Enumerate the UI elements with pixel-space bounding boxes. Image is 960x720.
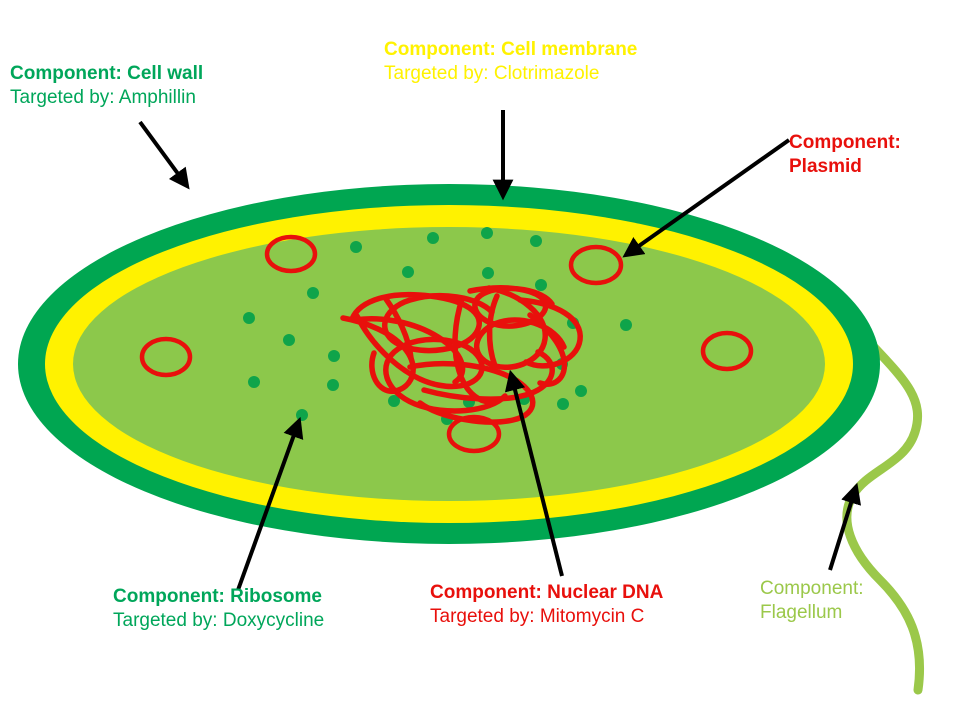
ribosome-dot [575,385,587,397]
label-nuclear-dna: Component: Nuclear DNA Targeted by: Mito… [430,581,663,630]
ribosome-dot [327,379,339,391]
label-cell-wall-component: Component: Cell wall [10,62,203,86]
ribosome-dot [530,235,542,247]
label-nuclear-dna-targeted-by: Targeted by: Mitomycin C [430,605,663,629]
label-ribosome-component: Component: Ribosome [113,585,324,609]
ribosome-dot [557,398,569,410]
label-cell-membrane: Component: Cell membrane Targeted by: Cl… [384,38,637,87]
label-plasmid-component: Component: [789,131,901,155]
label-flagellum-component-line2: Flagellum [760,601,864,625]
label-plasmid: Component: Plasmid [789,131,901,180]
ribosome-dot [307,287,319,299]
ribosome-dot [535,279,547,291]
ribosome-dot [328,350,340,362]
ribosome-dot [243,312,255,324]
label-cell-wall: Component: Cell wall Targeted by: Amphil… [10,62,203,111]
ribosome-dot [296,409,308,421]
label-flagellum: Component: Flagellum [760,577,864,626]
cell-wall-arrow [140,122,187,186]
ribosome-dot [427,232,439,244]
ribosome-dot [248,376,260,388]
label-ribosome-targeted-by: Targeted by: Doxycycline [113,609,324,633]
label-cell-membrane-component: Component: Cell membrane [384,38,637,62]
label-nuclear-dna-component: Component: Nuclear DNA [430,581,663,605]
ribosome-dot [482,267,494,279]
ribosome-dot [481,227,493,239]
label-ribosome: Component: Ribosome Targeted by: Doxycyc… [113,585,324,634]
label-flagellum-component: Component: [760,577,864,601]
ribosome-dot [350,241,362,253]
ribosome-dot [283,334,295,346]
label-cell-membrane-targeted-by: Targeted by: Clotrimazole [384,62,637,86]
ribosome-dot [620,319,632,331]
diagram-canvas: Component: Cell wall Targeted by: Amphil… [0,0,960,720]
label-plasmid-component-line2: Plasmid [789,155,901,179]
ribosome-dot [402,266,414,278]
label-cell-wall-targeted-by: Targeted by: Amphillin [10,86,203,110]
